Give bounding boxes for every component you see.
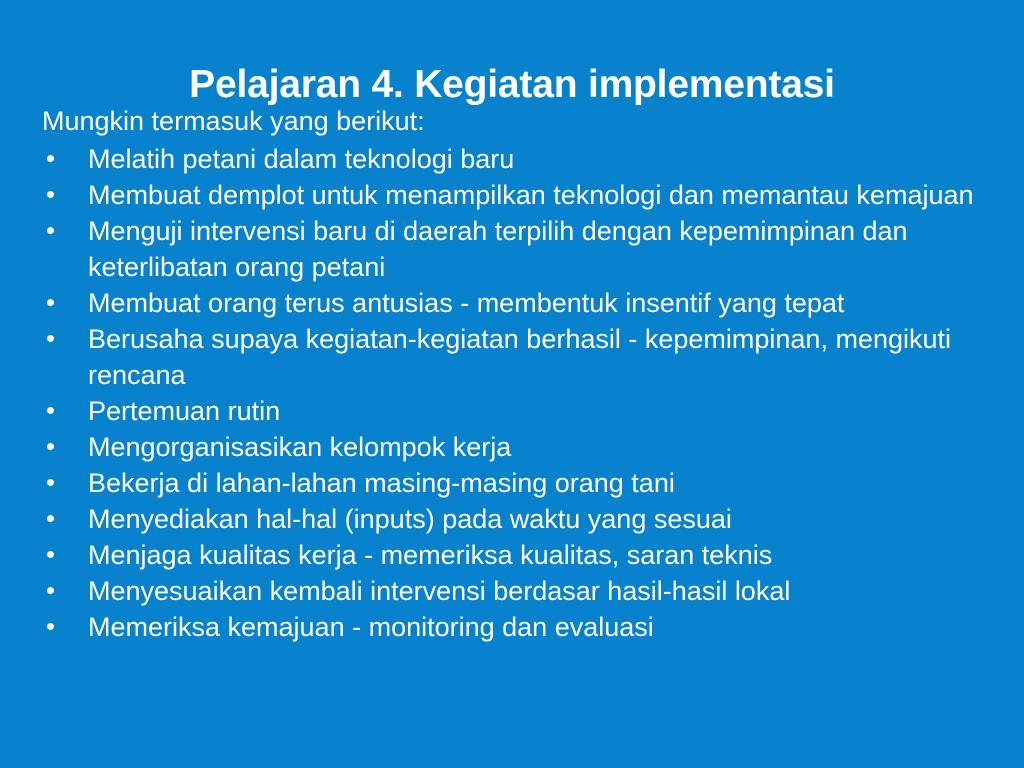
bullet-dot-icon <box>47 551 54 558</box>
list-item: Pertemuan rutin <box>42 393 992 429</box>
list-item: Melatih petani dalam teknologi baru <box>42 141 992 177</box>
list-item: Mengorganisasikan kelompok kerja <box>42 429 992 465</box>
list-item: Bekerja di lahan-lahan masing-masing ora… <box>42 465 992 501</box>
list-item: Menyediakan hal-hal (inputs) pada waktu … <box>42 501 992 537</box>
list-item-label: Bekerja di lahan-lahan masing-masing ora… <box>88 465 992 501</box>
bullet-dot-icon <box>47 443 54 450</box>
bullet-dot-icon <box>47 191 54 198</box>
list-item-label: Mengorganisasikan kelompok kerja <box>88 429 992 465</box>
bullet-dot-icon <box>47 299 54 306</box>
intro-text: Mungkin termasuk yang berikut: <box>42 103 992 139</box>
bullet-dot-icon <box>47 155 54 162</box>
list-item-label: Menyediakan hal-hal (inputs) pada waktu … <box>88 501 992 537</box>
page-title: Pelajaran 4. Kegiatan implementasi <box>0 62 1024 108</box>
list-item-label: Membuat orang terus antusias - membentuk… <box>88 285 992 321</box>
list-item-label: Membuat demplot untuk menampilkan teknol… <box>88 177 992 213</box>
list-item-label: Menjaga kualitas kerja - memeriksa kuali… <box>88 537 992 573</box>
list-item-label: Menguji intervensi baru di daerah terpil… <box>88 213 992 285</box>
bullet-dot-icon <box>47 515 54 522</box>
bullet-dot-icon <box>47 623 54 630</box>
bullet-dot-icon <box>47 479 54 486</box>
list-item-label: Memeriksa kemajuan - monitoring dan eval… <box>88 609 992 645</box>
list-item-label: Melatih petani dalam teknologi baru <box>88 141 992 177</box>
slide-body: Mungkin termasuk yang berikut: Melatih p… <box>42 103 992 645</box>
bullet-list: Melatih petani dalam teknologi baruMembu… <box>42 141 992 645</box>
list-item: Memeriksa kemajuan - monitoring dan eval… <box>42 609 992 645</box>
list-item-label: Menyesuaikan kembali intervensi berdasar… <box>88 573 992 609</box>
list-item-label: Pertemuan rutin <box>88 393 992 429</box>
list-item: Menguji intervensi baru di daerah terpil… <box>42 213 992 285</box>
slide-canvas: Pelajaran 4. Kegiatan implementasi Mungk… <box>0 0 1024 768</box>
bullet-dot-icon <box>47 587 54 594</box>
list-item: Menjaga kualitas kerja - memeriksa kuali… <box>42 537 992 573</box>
bullet-dot-icon <box>47 407 54 414</box>
list-item: Menyesuaikan kembali intervensi berdasar… <box>42 573 992 609</box>
list-item: Membuat orang terus antusias - membentuk… <box>42 285 992 321</box>
list-item: Berusaha supaya kegiatan-kegiatan berhas… <box>42 321 992 393</box>
bullet-dot-icon <box>47 227 54 234</box>
bullet-dot-icon <box>47 335 54 342</box>
list-item-label: Berusaha supaya kegiatan-kegiatan berhas… <box>88 321 992 393</box>
list-item: Membuat demplot untuk menampilkan teknol… <box>42 177 992 213</box>
